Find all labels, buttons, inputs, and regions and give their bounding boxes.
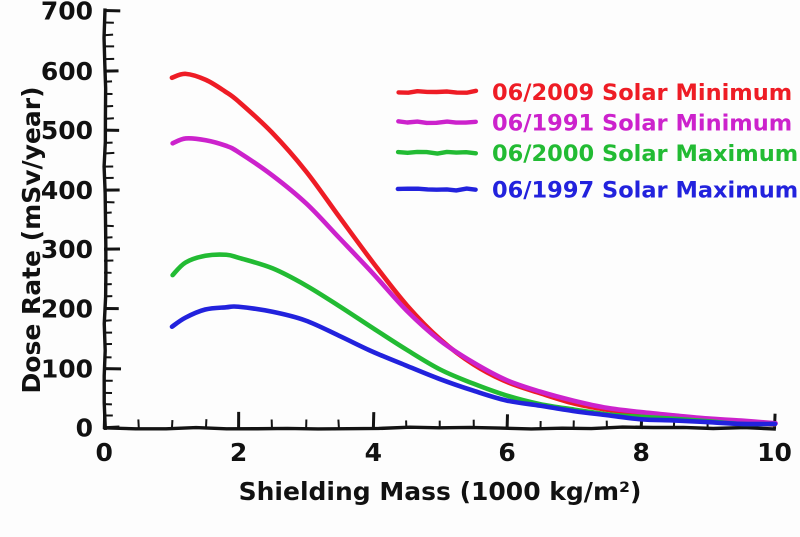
y-tick-label: 300 [41, 235, 93, 264]
x-tick-label: 2 [230, 438, 247, 467]
y-tick-minor [104, 118, 114, 119]
y-tick-label: 700 [41, 0, 93, 26]
y-axis-title: Dose Rate (mSv/year) [17, 87, 46, 394]
y-tick-label: 500 [41, 116, 93, 145]
x-tick-minor [338, 420, 339, 429]
legend-swatch-line [398, 152, 476, 154]
legend-swatch-line [398, 121, 475, 123]
legend-entry-2: 06/2000 Solar Maximum [398, 141, 798, 167]
legend-label: 06/2000 Solar Maximum [492, 141, 798, 167]
legend-entry-3: 06/1997 Solar Maximum [398, 178, 798, 204]
legend-label: 06/1997 Solar Maximum [492, 178, 798, 204]
y-tick-minor [104, 106, 113, 107]
chart-legend: 06/2009 Solar Minimum06/1991 Solar Minim… [398, 80, 798, 204]
x-axis-title: Shielding Mass (1000 kg/m²) [239, 477, 642, 506]
y-tick-label: 600 [41, 57, 93, 86]
legend-label: 06/1991 Solar Minimum [492, 111, 792, 137]
chart-canvas: 0100200300400500600700 0246810 Dose Rate… [0, 0, 800, 537]
legend-swatch-line [399, 91, 476, 93]
y-tick-major [104, 427, 119, 428]
y-tick-label: 0 [76, 414, 93, 443]
legend-label: 06/2009 Solar Minimum [492, 80, 792, 106]
legend-entry-1: 06/1991 Solar Minimum [398, 111, 792, 137]
legend-swatch-line [398, 189, 476, 191]
y-tick-label: 200 [41, 295, 93, 324]
x-tick-label: 4 [365, 438, 382, 467]
axes [104, 10, 775, 429]
y-tick-label: 100 [41, 355, 93, 384]
x-axis-tick-labels: 0246810 [96, 438, 792, 467]
y-tick-minor [104, 35, 113, 36]
y-tick-label: 400 [41, 176, 93, 205]
x-tick-minor [172, 420, 173, 429]
series-line-2 [173, 255, 775, 425]
dose-rate-chart: 0100200300400500600700 0246810 Dose Rate… [0, 0, 800, 537]
y-axis-tick-labels: 0100200300400500600700 [41, 0, 93, 443]
x-tick-label: 10 [757, 438, 792, 467]
legend-entry-0: 06/2009 Solar Minimum [399, 80, 793, 106]
y-tick-minor [104, 320, 112, 321]
x-tick-label: 6 [498, 438, 515, 467]
y-axis-spine [104, 10, 106, 428]
y-tick-minor [104, 153, 114, 154]
x-tick-label: 8 [632, 438, 649, 467]
x-tick-label: 0 [96, 438, 113, 467]
